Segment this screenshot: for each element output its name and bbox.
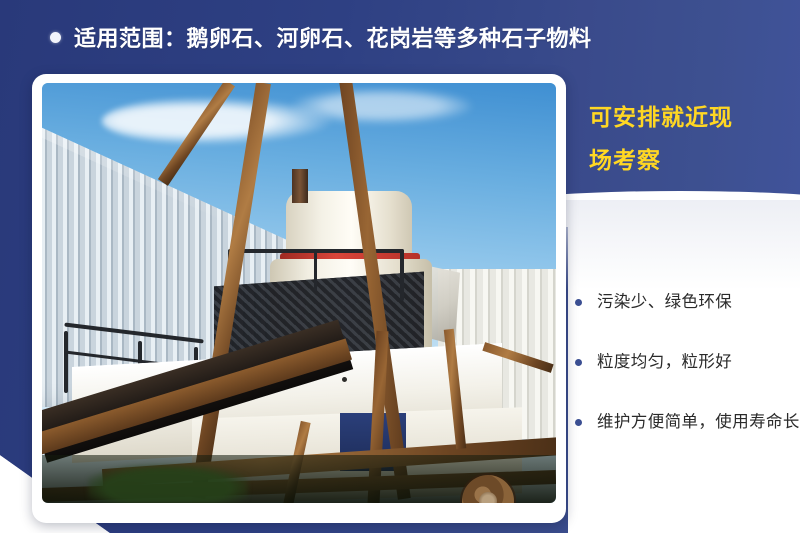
feature-item-1: 污染少、绿色环保 — [566, 288, 800, 317]
feature-text: 维护方便简单，使用寿命长 — [597, 413, 800, 431]
feature-item-2: 粒度均匀，粒形好 — [566, 348, 800, 377]
callout-line-2: 场考察 — [589, 139, 779, 182]
header-bar: 适用范围：鹅卵石、河卵石、花岗岩等多种石子物料 — [0, 0, 800, 74]
photo-railing-post — [400, 249, 404, 301]
bullet-dot-icon — [575, 299, 582, 306]
photo-bolt — [342, 377, 347, 382]
feature-list: 污染少、绿色环保 粒度均匀，粒形好 维护方便简单，使用寿命长 — [566, 288, 800, 437]
promo-banner: 适用范围：鹅卵石、河卵石、花岗岩等多种石子物料 7 — [0, 0, 800, 533]
photo-railing-post — [314, 251, 317, 291]
photo-railing-post — [64, 331, 68, 393]
bullet-dot-icon — [575, 359, 582, 366]
photo-flywheel-hub — [479, 492, 497, 503]
equipment-photo: 7 — [42, 83, 556, 503]
header-title: 适用范围：鹅卵石、河卵石、花岗岩等多种石子物料 — [74, 21, 592, 53]
bullet-dot-icon — [575, 419, 582, 426]
photo-cloud-secondary — [292, 89, 472, 123]
callout-line-1: 可安排就近现 — [589, 104, 733, 130]
photo-foliage — [88, 465, 248, 503]
feature-item-3: 维护方便简单，使用寿命长 — [566, 408, 800, 437]
photo-exhaust-stack — [292, 169, 308, 203]
yellow-callout: 可安排就近现 场考察 — [589, 96, 779, 182]
feature-text: 粒度均匀，粒形好 — [597, 353, 732, 371]
feature-text: 污染少、绿色环保 — [597, 293, 732, 311]
header-bullet-icon — [50, 32, 61, 43]
